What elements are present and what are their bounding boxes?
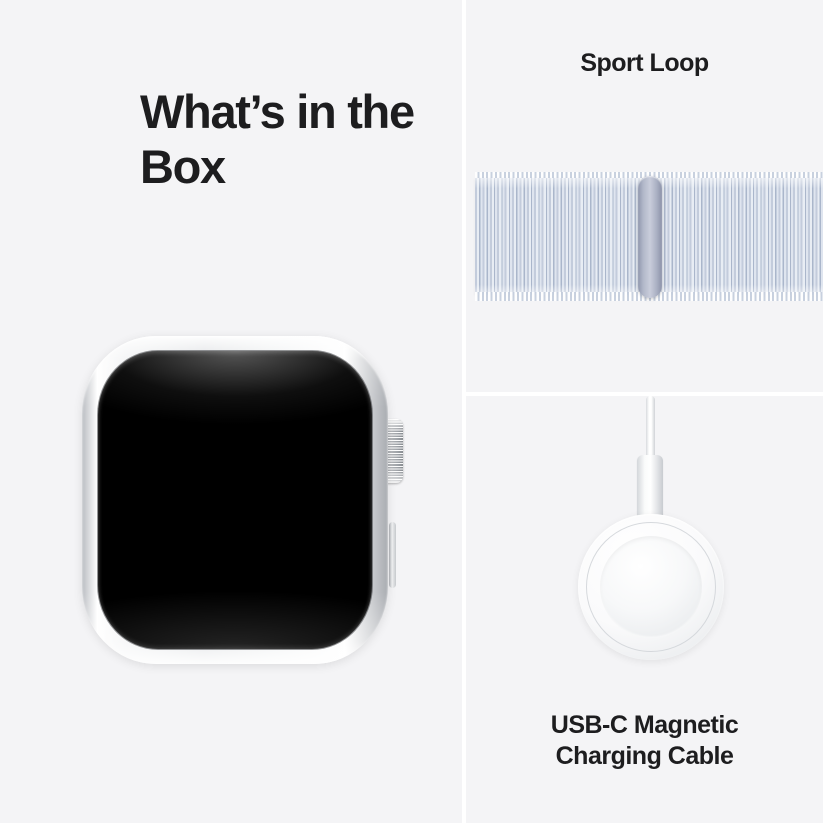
charging-cable-connector (637, 455, 663, 523)
side-button-icon (389, 522, 396, 588)
panel-whats-in-the-box: What’s in the Box (0, 0, 462, 823)
charging-puck-inner (600, 536, 702, 638)
page-title: What’s in the Box (140, 84, 440, 195)
apple-watch-product (82, 336, 402, 664)
charging-cable-caption-line2: Charging Cable (466, 741, 823, 772)
watch-display (98, 351, 372, 649)
product-image-canvas: What’s in the Box Sport Loop USB-C Magne… (0, 0, 823, 823)
sport-loop-caption: Sport Loop (466, 48, 823, 79)
charging-cable-caption: USB-C Magnetic Charging Cable (466, 710, 823, 773)
charging-cable-cord (646, 396, 655, 462)
charging-cable-caption-line1: USB-C Magnetic (466, 710, 823, 741)
sport-loop-keeper (638, 176, 662, 298)
